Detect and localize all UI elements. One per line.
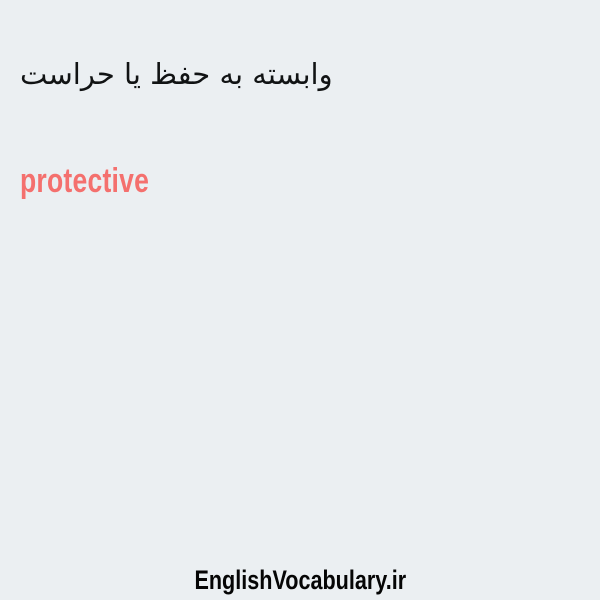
translation-section: protective	[20, 163, 580, 200]
translation-word: protective	[20, 163, 149, 200]
page-title: وابسته به حفظ یا حراست	[20, 55, 580, 94]
page-root: وابسته به حفظ یا حراست protective Englis…	[0, 0, 600, 600]
site-footer: EnglishVocabulary.ir	[0, 560, 600, 600]
brand-name: EnglishVocabulary.ir	[194, 565, 406, 596]
